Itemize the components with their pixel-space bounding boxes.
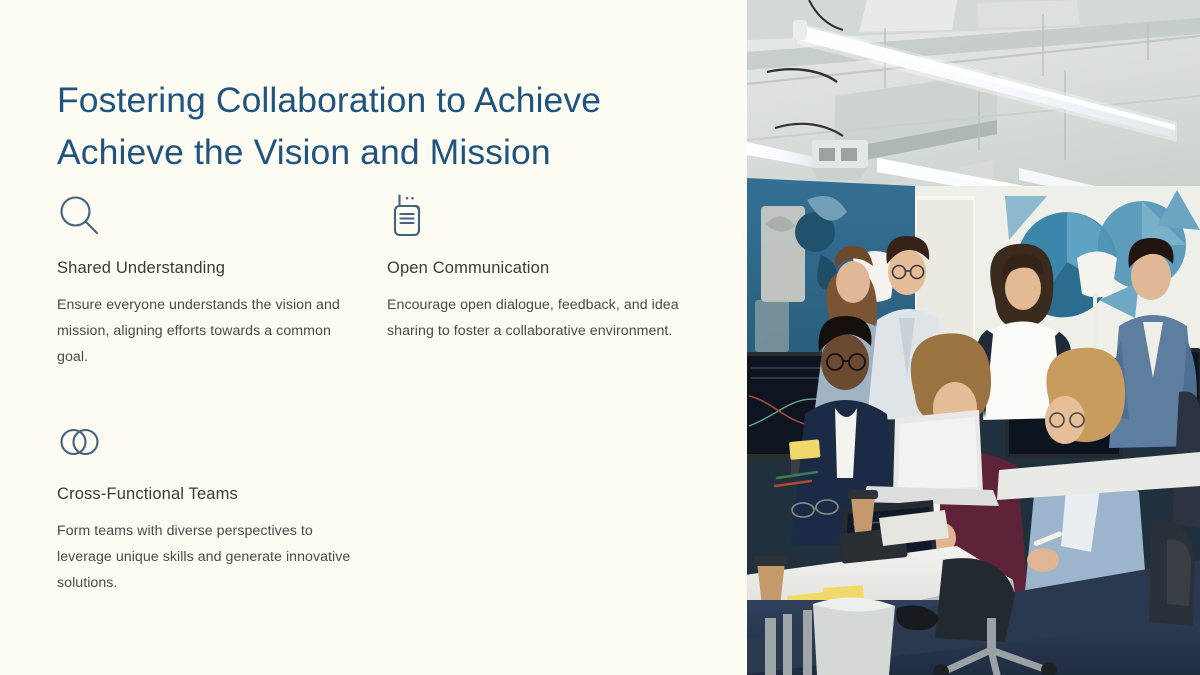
- feature-card-cross-functional-teams: Cross-Functional Teams Form teams with d…: [57, 419, 357, 596]
- feature-card-shared-understanding: Shared Understanding Ensure everyone und…: [57, 193, 357, 370]
- overlapping-circles-icon: [57, 419, 357, 465]
- feature-card-body: Form teams with diverse perspectives to …: [57, 518, 357, 596]
- walkie-talkie-icon: [387, 193, 687, 239]
- content-panel: Fostering Collaboration to Achieve Achie…: [0, 0, 747, 675]
- feature-card-body: Ensure everyone understands the vision a…: [57, 292, 357, 370]
- feature-card-heading: Cross-Functional Teams: [57, 485, 357, 504]
- feature-card-heading: Open Communication: [387, 259, 687, 278]
- page-title-line-2: Achieve the Vision and Mission: [57, 126, 697, 178]
- page-title-line-1: Fostering Collaboration to Achieve: [57, 74, 697, 126]
- feature-card-heading: Shared Understanding: [57, 259, 357, 278]
- search-icon: [57, 193, 357, 239]
- feature-card-body: Encourage open dialogue, feedback, and i…: [387, 292, 687, 344]
- office-team-photo: [747, 0, 1200, 675]
- page-title: Fostering Collaboration to Achieve Achie…: [57, 74, 697, 178]
- feature-card-open-communication: Open Communication Encourage open dialog…: [387, 193, 687, 344]
- slide: Fostering Collaboration to Achieve Achie…: [0, 0, 1200, 675]
